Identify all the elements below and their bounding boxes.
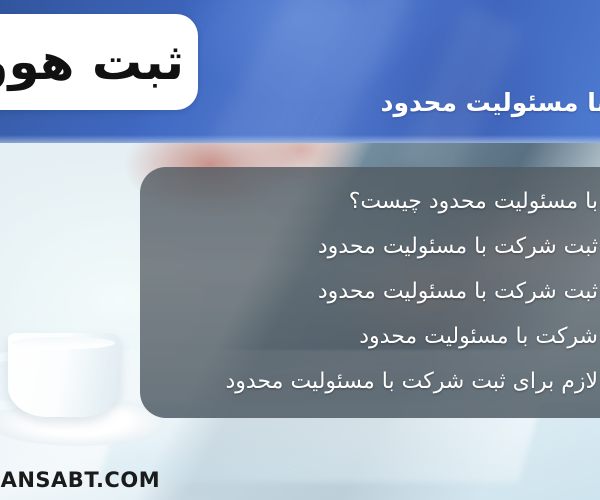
- coffee-cup: [8, 333, 120, 417]
- list-item: با مسئولیت محدود چیست؟: [140, 179, 600, 224]
- list-item: ثبت شرکت با مسئولیت محدود: [140, 224, 600, 269]
- list-item: ثبت شرکت با مسئولیت محدود: [140, 269, 600, 314]
- band-bottom-fade: [0, 135, 600, 143]
- logo-text: ثبت هوو: [0, 37, 184, 87]
- topics-list: با مسئولیت محدود چیست؟ ثبت شرکت با مسئول…: [140, 167, 600, 418]
- list-item: لازم برای ثبت شرکت با مسئولیت محدود: [140, 359, 600, 404]
- topics-panel: با مسئولیت محدود چیست؟ ثبت شرکت با مسئول…: [140, 167, 600, 418]
- banner-canvas: ثبت هوو با مسئولیت محدود با مسئولیت محدو…: [0, 0, 600, 500]
- site-watermark: DRANSABT.COM: [0, 468, 160, 492]
- page-title: با مسئولیت محدود: [46, 88, 600, 117]
- list-item: شرکت با مسئولیت محدود: [140, 314, 600, 359]
